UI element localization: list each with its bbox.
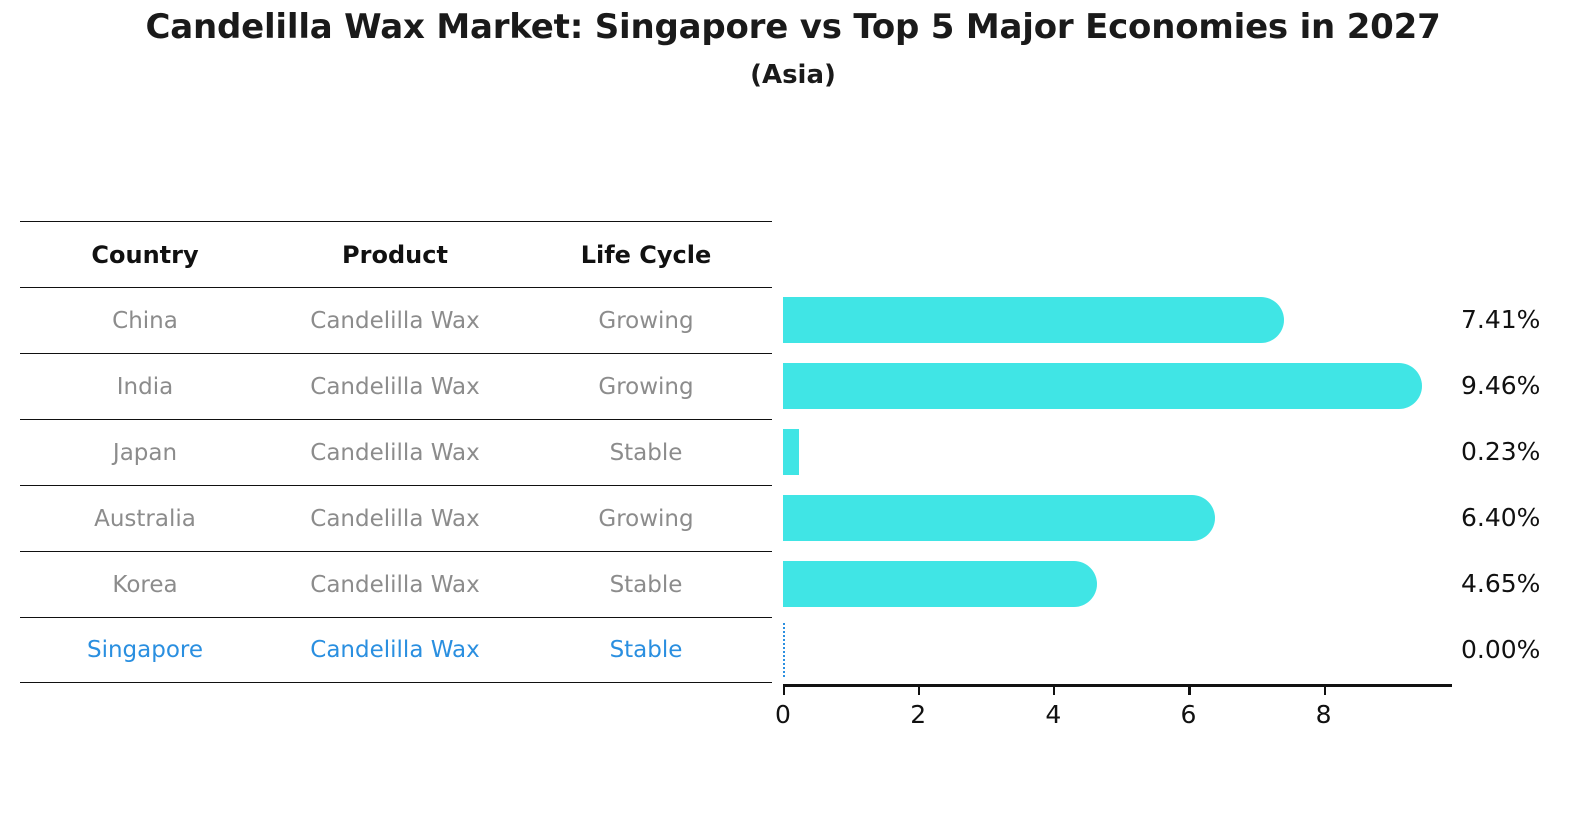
cell-life-cycle: Stable: [520, 637, 772, 663]
x-axis-tick: [1053, 684, 1055, 695]
cell-product: Candelilla Wax: [270, 374, 520, 400]
country-table: Country Product Life Cycle China Candeli…: [20, 221, 772, 683]
page-title: Candelilla Wax Market: Singapore vs Top …: [0, 10, 1586, 44]
bar-track: 0.00%: [783, 617, 1452, 683]
bar-value-label: 7.41%: [1461, 305, 1540, 334]
cell-product: Candelilla Wax: [270, 506, 520, 532]
table-row[interactable]: China Candelilla Wax Growing: [20, 287, 772, 353]
page-subtitle: (Asia): [0, 62, 1586, 88]
bar-track: 0.23%: [783, 419, 1452, 485]
cell-country: Australia: [20, 506, 270, 532]
bar-value-label: 0.23%: [1461, 437, 1540, 466]
column-header-country: Country: [20, 241, 270, 269]
bar-value-label: 6.40%: [1461, 503, 1540, 532]
x-axis-tick: [1324, 684, 1326, 695]
bar-track: 7.41%: [783, 287, 1452, 353]
title-block: Candelilla Wax Market: Singapore vs Top …: [0, 10, 1586, 88]
table-row[interactable]: Japan Candelilla Wax Stable: [20, 419, 772, 485]
bar-korea: [783, 561, 1097, 607]
cell-country: Japan: [20, 440, 270, 466]
table-row[interactable]: India Candelilla Wax Growing: [20, 353, 772, 419]
x-axis-tick-label: 0: [775, 700, 791, 729]
column-header-life-cycle: Life Cycle: [520, 241, 772, 269]
cell-country: India: [20, 374, 270, 400]
table-row[interactable]: Australia Candelilla Wax Growing: [20, 485, 772, 551]
cell-country: Singapore: [20, 637, 270, 663]
cell-product: Candelilla Wax: [270, 308, 520, 334]
cell-life-cycle: Stable: [520, 572, 772, 598]
cell-product: Candelilla Wax: [270, 440, 520, 466]
bar-value-label: 4.65%: [1461, 569, 1540, 598]
bar-australia: [783, 495, 1215, 541]
x-axis-line: [783, 684, 1452, 687]
bar-track: 6.40%: [783, 485, 1452, 551]
cell-life-cycle: Growing: [520, 308, 772, 334]
x-axis-tick-label: 2: [910, 700, 926, 729]
x-axis-tick: [918, 684, 920, 695]
table-header-row: Country Product Life Cycle: [20, 221, 772, 287]
x-axis-tick: [783, 684, 785, 695]
table-row-highlighted[interactable]: Singapore Candelilla Wax Stable: [20, 617, 772, 683]
bar-value-label: 9.46%: [1461, 371, 1540, 400]
zero-marker-singapore: [783, 623, 785, 677]
x-axis-tick-label: 4: [1045, 700, 1061, 729]
x-axis-tick-label: 8: [1316, 700, 1332, 729]
bar-value-label: 0.00%: [1461, 635, 1540, 664]
x-axis-tick-label: 6: [1181, 700, 1197, 729]
cell-life-cycle: Growing: [520, 506, 772, 532]
cell-product: Candelilla Wax: [270, 637, 520, 663]
cell-life-cycle: Stable: [520, 440, 772, 466]
cell-product: Candelilla Wax: [270, 572, 520, 598]
column-header-product: Product: [270, 241, 520, 269]
table-row[interactable]: Korea Candelilla Wax Stable: [20, 551, 772, 617]
cell-country: Korea: [20, 572, 270, 598]
bar-india: [783, 363, 1422, 409]
bar-japan: [783, 429, 799, 475]
bar-china: [783, 297, 1284, 343]
cell-life-cycle: Growing: [520, 374, 772, 400]
bar-track: 9.46%: [783, 353, 1452, 419]
x-axis-tick: [1188, 684, 1190, 695]
bar-track: 4.65%: [783, 551, 1452, 617]
cell-country: China: [20, 308, 270, 334]
